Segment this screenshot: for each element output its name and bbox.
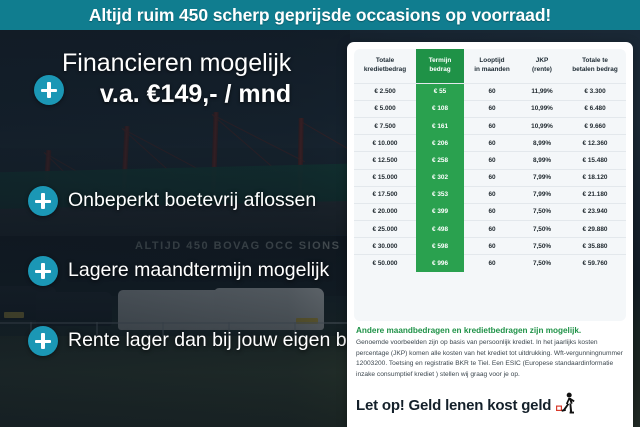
table-cell: 60	[464, 117, 520, 134]
table-cell: 60	[464, 203, 520, 220]
credit-warning-text: Let op! Geld lenen kost geld	[356, 397, 551, 414]
table-cell: 60	[464, 100, 520, 117]
table-cell: 60	[464, 221, 520, 238]
rates-table-body: € 2.500€ 556011,99%€ 3.300€ 5.000€ 10860…	[354, 83, 626, 272]
table-cell: € 59.760	[564, 255, 626, 272]
col-header-termijn-bedrag: Termijnbedrag	[416, 49, 464, 83]
table-row: € 50.000€ 996607,50%€ 59.760	[354, 255, 626, 272]
table-cell: € 25.000	[354, 221, 416, 238]
table-cell: € 2.500	[354, 83, 416, 100]
headline-line-1: Financieren mogelijk	[62, 50, 347, 76]
table-cell: € 7.500	[354, 117, 416, 134]
left-content: Financieren mogelijk v.a. €149,- / mnd O…	[0, 30, 350, 427]
plus-icon	[28, 326, 58, 356]
table-cell: € 302	[416, 169, 464, 186]
table-cell: 7,50%	[520, 238, 564, 255]
plus-icon	[28, 256, 58, 286]
table-cell: € 29.880	[564, 221, 626, 238]
promo-banner: DEALER INRUILAUTO'S JOHAN MEURE ALTIJD 4…	[0, 0, 640, 427]
table-cell: 7,50%	[520, 221, 564, 238]
table-cell: € 15.480	[564, 152, 626, 169]
table-cell: 10,99%	[520, 117, 564, 134]
plus-icon	[28, 186, 58, 216]
walking-man-icon	[556, 392, 575, 419]
table-cell: 60	[464, 83, 520, 100]
table-cell: € 9.660	[564, 117, 626, 134]
table-header-row: Totalekredietbedrag Termijnbedrag Loopti…	[354, 49, 626, 83]
table-cell: 8,99%	[520, 152, 564, 169]
table-row: € 17.500€ 353607,99%€ 21.180	[354, 186, 626, 203]
top-headline-text: Altijd ruim 450 scherp geprijsde occasio…	[89, 5, 551, 26]
table-cell: 8,99%	[520, 135, 564, 152]
plus-icon	[34, 75, 64, 105]
table-cell: 7,50%	[520, 203, 564, 220]
benefit-item-1: Onbeperkt boetevrij aflossen	[28, 185, 350, 217]
table-row: € 7.500€ 1616010,99%€ 9.660	[354, 117, 626, 134]
table-cell: € 50.000	[354, 255, 416, 272]
note-body-text: Genoemde voorbeelden zijn op basis van p…	[356, 338, 624, 381]
table-cell: € 55	[416, 83, 464, 100]
table-cell: € 598	[416, 238, 464, 255]
credit-warning: Let op! Geld lenen kost geld	[356, 392, 624, 418]
table-cell: 60	[464, 238, 520, 255]
table-cell: € 258	[416, 152, 464, 169]
benefit-label: Onbeperkt boetevrij aflossen	[68, 186, 316, 215]
col-header-totale-te-betalen: Totale tebetalen bedrag	[564, 49, 626, 83]
rates-table: Totalekredietbedrag Termijnbedrag Loopti…	[354, 49, 626, 272]
financing-headline: Financieren mogelijk v.a. €149,- / mnd	[62, 50, 347, 109]
benefit-item-3: Rente lager dan bij jouw eigen bank	[28, 325, 350, 357]
table-cell: € 5.000	[354, 100, 416, 117]
table-cell: € 3.300	[564, 83, 626, 100]
table-row: € 10.000€ 206608,99%€ 12.360	[354, 135, 626, 152]
table-cell: € 23.940	[564, 203, 626, 220]
table-cell: € 161	[416, 117, 464, 134]
table-cell: € 18.120	[564, 169, 626, 186]
table-cell: € 20.000	[354, 203, 416, 220]
table-cell: € 17.500	[354, 186, 416, 203]
benefit-item-2: Lagere maandtermijn mogelijk	[28, 255, 350, 287]
col-header-looptijd: Looptijdin maanden	[464, 49, 520, 83]
table-cell: 60	[464, 169, 520, 186]
top-headline-bar: Altijd ruim 450 scherp geprijsde occasio…	[0, 0, 640, 30]
col-header-totale-kredietbedrag: Totalekredietbedrag	[354, 49, 416, 83]
table-cell: € 15.000	[354, 169, 416, 186]
table-cell: € 6.480	[564, 100, 626, 117]
table-cell: 7,50%	[520, 255, 564, 272]
table-row: € 12.500€ 258608,99%€ 15.480	[354, 152, 626, 169]
table-cell: 60	[464, 186, 520, 203]
table-cell: € 35.880	[564, 238, 626, 255]
table-row: € 30.000€ 598607,50%€ 35.880	[354, 238, 626, 255]
table-row: € 25.000€ 498607,50%€ 29.880	[354, 221, 626, 238]
table-row: € 2.500€ 556011,99%€ 3.300	[354, 83, 626, 100]
table-row: € 15.000€ 302607,99%€ 18.120	[354, 169, 626, 186]
table-cell: 7,99%	[520, 169, 564, 186]
table-cell: € 108	[416, 100, 464, 117]
table-cell: € 399	[416, 203, 464, 220]
table-cell: 60	[464, 135, 520, 152]
table-cell: € 30.000	[354, 238, 416, 255]
table-cell: 11,99%	[520, 83, 564, 100]
rates-table-container: Totalekredietbedrag Termijnbedrag Loopti…	[354, 49, 626, 321]
benefit-label: Lagere maandtermijn mogelijk	[68, 256, 329, 285]
table-cell: € 10.000	[354, 135, 416, 152]
table-row: € 5.000€ 1086010,99%€ 6.480	[354, 100, 626, 117]
table-cell: 10,99%	[520, 100, 564, 117]
note-heading: Andere maandbedragen en kredietbedragen …	[356, 326, 624, 336]
table-cell: 7,99%	[520, 186, 564, 203]
col-header-jkp: JKP(rente)	[520, 49, 564, 83]
table-cell: € 206	[416, 135, 464, 152]
table-cell: € 12.500	[354, 152, 416, 169]
table-cell: 60	[464, 255, 520, 272]
table-cell: € 21.180	[564, 186, 626, 203]
table-cell: € 498	[416, 221, 464, 238]
table-row: € 20.000€ 399607,50%€ 23.940	[354, 203, 626, 220]
table-cell: € 353	[416, 186, 464, 203]
table-cell: € 12.360	[564, 135, 626, 152]
headline-line-2: v.a. €149,- / mnd	[62, 80, 347, 109]
table-cell: 60	[464, 152, 520, 169]
rates-card: Totalekredietbedrag Termijnbedrag Loopti…	[347, 42, 633, 427]
table-cell: € 996	[416, 255, 464, 272]
benefit-label: Rente lager dan bij jouw eigen bank	[68, 326, 378, 355]
